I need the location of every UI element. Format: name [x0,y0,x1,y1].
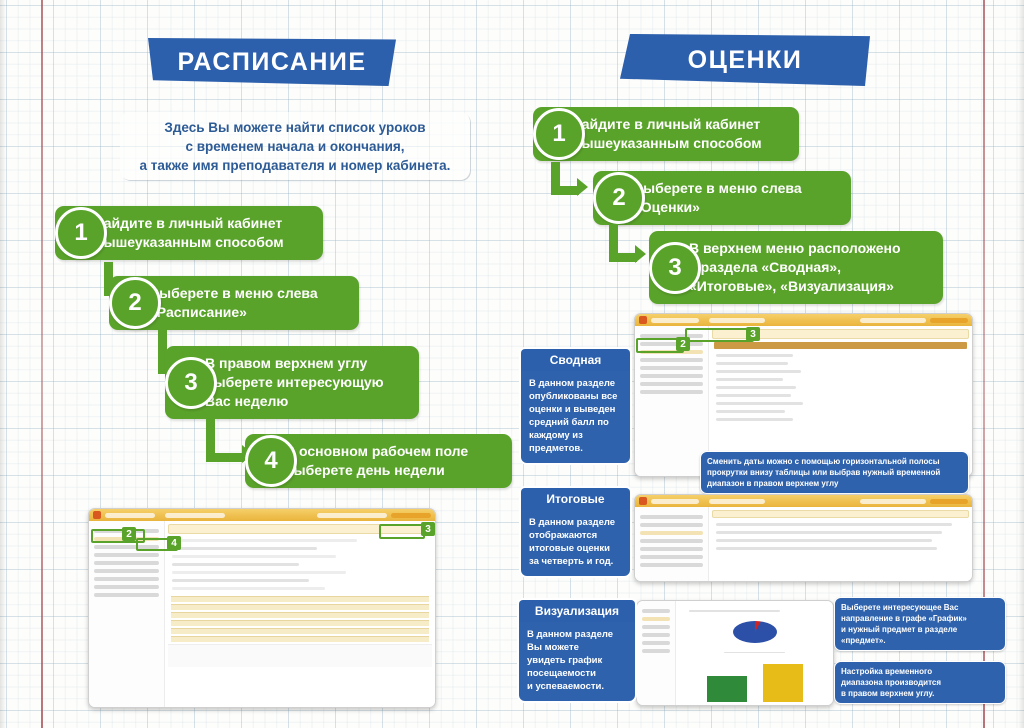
table-row [716,539,932,542]
section-banner-grades: ОЦЕНКИ [620,34,870,86]
screenshot-topbar [635,314,972,326]
sidebar-row[interactable] [640,390,703,394]
table-row [716,531,942,534]
sidebar-row[interactable] [94,577,159,581]
sidebar-row[interactable] [642,609,670,613]
subject-row [716,418,793,421]
sidebar-row[interactable] [640,523,703,527]
screenshot-body [637,601,833,705]
section-banner-schedule: РАСПИСАНИЕ [148,38,396,86]
sidebar-row[interactable] [94,569,159,573]
sidebar-row-active[interactable] [640,531,703,535]
subject-row [716,386,796,389]
grades-step-3-number: 3 [649,242,701,294]
schedule-step-1: Зайдите в личный кабинет вышеуказанным с… [55,206,323,260]
section-card-visualization-title: Визуализация [517,598,637,622]
pie-legend-line [724,652,784,654]
section-card-final-title: Итоговые [519,486,632,510]
bar-yellow [763,664,803,702]
sidebar-row[interactable] [642,625,670,629]
sidebar-row[interactable] [640,539,703,543]
schedule-step-4: В основном рабочем поле выберете день не… [245,434,512,488]
sidebar-row[interactable] [640,358,703,362]
sidebar-row[interactable] [94,585,159,589]
schedule-step-4-number: 4 [245,435,297,487]
screenshot-sidebar[interactable] [635,507,709,581]
sidebar-row[interactable] [640,382,703,386]
topbar-search-pill[interactable] [860,318,926,323]
visualization-screenshot[interactable] [636,600,834,706]
highlight-week-picker [379,524,425,539]
table-row [171,636,429,642]
screenshot-content [709,507,972,581]
sidebar-row[interactable] [640,547,703,551]
lesson-row [172,555,336,558]
table-header-row [716,523,952,526]
sidebar-row[interactable] [640,515,703,519]
section-card-visualization: Визуализация В данном разделе Вы можете … [517,598,637,703]
sidebar-row[interactable] [94,593,159,597]
sidebar-row[interactable] [642,641,670,645]
subject-row [716,402,803,405]
grades-step-1: Зайдите в личный кабинет вышеуказанным с… [533,107,799,161]
summary-badge-2: 2 [676,337,690,351]
section-card-final-body: В данном разделе отображаются итоговые о… [519,510,632,578]
screenshot-badge-4: 4 [167,536,181,550]
topbar-user-pill[interactable] [930,499,968,504]
section-card-final: Итоговые В данном разделе отображаются и… [519,486,632,578]
table-row [171,612,429,618]
schedule-intro-note: Здесь Вы можете найти список уроков с вр… [120,112,470,180]
topbar-breadcrumb-pill [165,513,225,518]
topbar-title-pill [651,499,699,504]
topbar-title-pill [651,318,699,323]
screenshot-topbar [89,509,435,521]
table-row [716,547,937,550]
sidebar-row[interactable] [94,561,159,565]
screenshot-footer [168,644,432,667]
subject-row [716,410,785,413]
screenshot-sidebar[interactable] [637,601,676,705]
section-card-summary-body: В данном разделе опубликованы все оценки… [519,371,632,465]
hint-graph-selection: Выберете интересующее Вас направление в … [834,597,1006,651]
highlight-top-tabs [685,328,754,342]
schedule-step-2: Выберете в меню слева «Расписание» 2 [109,276,359,330]
topbar-user-pill[interactable] [391,513,431,518]
topbar-search-pill[interactable] [317,513,387,518]
bar-green [707,676,747,702]
sidebar-row[interactable] [640,366,703,370]
app-logo-icon [639,497,647,505]
screenshot-topbar [635,495,972,507]
schedule-step-3: В правом верхнем углу выберете интересую… [165,346,419,419]
section-card-summary-title: Сводная [519,347,632,371]
performance-bar-chart [707,664,803,702]
hint-date-range: Сменить даты можно с помощью горизонталь… [700,451,969,494]
summary-badge-3: 3 [746,327,760,341]
schedule-screenshot[interactable]: 2 4 3 [88,508,436,708]
attendance-pie-chart [733,621,777,643]
intro-line-2: с временем начала и окончания, [185,137,404,156]
screenshot-content [165,521,435,707]
lesson-row [172,539,357,542]
app-logo-icon [639,316,647,324]
table-row [171,596,429,602]
lesson-row [172,563,299,566]
subject-row [716,370,801,373]
screenshot-badge-2: 2 [122,527,136,541]
subject-row [716,362,788,365]
lesson-row [172,547,317,550]
topbar-user-pill[interactable] [930,318,968,323]
grades-step-3: В верхнем меню расположено 3 раздела «Св… [649,231,943,304]
topbar-title-pill [105,513,155,518]
lesson-row [172,571,346,574]
sidebar-row[interactable] [640,555,703,559]
subject-row [716,354,793,357]
homework-table [168,596,432,642]
topbar-breadcrumb-pill [709,499,765,504]
grades-step-2-number: 2 [593,172,645,224]
subject-row [716,394,790,397]
app-logo-icon [93,511,101,519]
sidebar-row[interactable] [640,374,703,378]
intro-line-1: Здесь Вы можете найти список уроков [164,118,425,137]
lesson-row [172,579,309,582]
screenshot-badge-3: 3 [421,522,435,536]
hint-time-range: Настройка временного диапазона производи… [834,661,1006,704]
sidebar-row[interactable] [640,563,703,567]
schedule-step-1-number: 1 [55,207,107,259]
infographic-stage: РАСПИСАНИЕ Здесь Вы можете найти список … [0,0,1024,728]
subject-row [716,378,783,381]
topbar-breadcrumb-pill [709,318,765,323]
grades-step-2: Выберете в меню слева «Оценки» 2 [593,171,851,225]
section-card-visualization-body: В данном разделе Вы можете увидеть графи… [517,622,637,703]
lesson-row [172,587,325,590]
sidebar-row[interactable] [642,649,670,653]
section-card-summary: Сводная В данном разделе опубликованы вс… [519,347,632,465]
intro-line-3: а также имя преподавателя и номер кабине… [140,156,451,175]
sidebar-row[interactable] [642,633,670,637]
schedule-step-2-number: 2 [109,277,161,329]
grades-step-1-number: 1 [533,108,585,160]
date-header-strip [714,342,967,349]
topbar-search-pill[interactable] [860,499,926,504]
screenshot-charts [676,601,833,705]
schedule-step-3-number: 3 [165,357,217,409]
sidebar-row-active[interactable] [642,617,670,621]
screenshot-body [635,507,972,581]
table-row [171,604,429,610]
final-grades-screenshot[interactable] [634,494,973,582]
table-row [171,620,429,626]
chart-title-line [689,610,779,612]
table-row [171,628,429,634]
screenshot-tabs[interactable] [712,510,969,518]
sidebar-row[interactable] [94,553,159,557]
